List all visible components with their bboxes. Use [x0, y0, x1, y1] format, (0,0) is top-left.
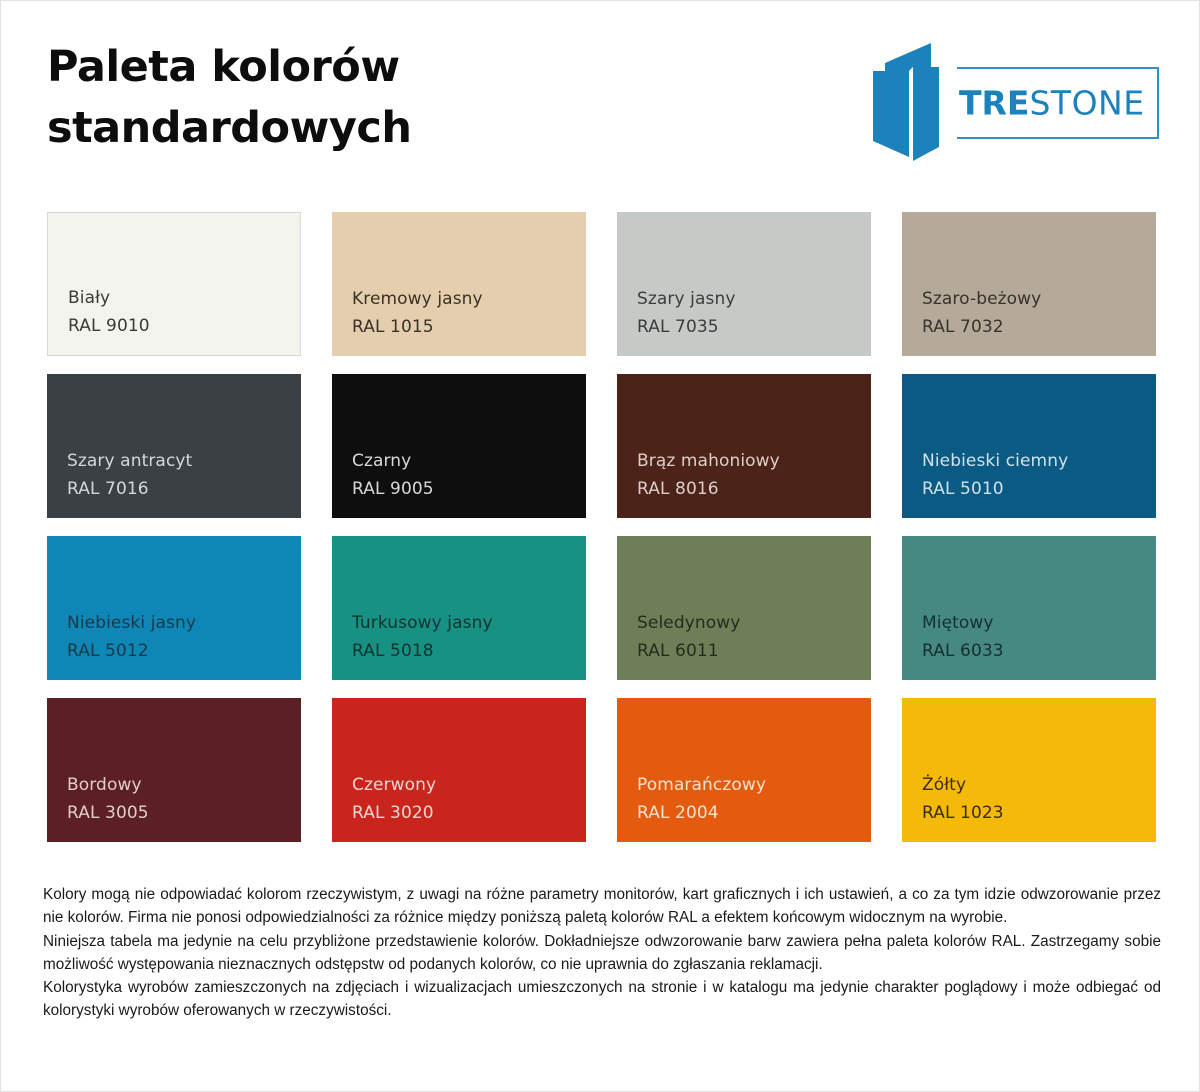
- swatch-name: Czerwony: [352, 772, 566, 798]
- swatch-name: Turkusowy jasny: [352, 610, 566, 636]
- color-swatch[interactable]: Szaro-beżowyRAL 7032: [902, 212, 1156, 356]
- swatch-ral-code: RAL 7035: [637, 314, 851, 340]
- swatch-name: Żółty: [922, 772, 1136, 798]
- page-title: Paleta kolorów standardowych: [47, 37, 607, 159]
- swatch-ral-code: RAL 3020: [352, 800, 566, 826]
- logo-wordmark-bold: TRE: [959, 84, 1029, 123]
- page-header: Paleta kolorów standardowych TRESTONE: [1, 1, 1200, 191]
- logo-wordmark-light: STONE: [1029, 84, 1144, 123]
- trestone-logo: TRESTONE: [869, 39, 1159, 161]
- color-swatch[interactable]: Szary jasnyRAL 7035: [617, 212, 871, 356]
- color-swatch[interactable]: Kremowy jasnyRAL 1015: [332, 212, 586, 356]
- swatch-name: Biały: [68, 285, 280, 311]
- swatch-ral-code: RAL 3005: [67, 800, 281, 826]
- swatch-ral-code: RAL 7032: [922, 314, 1136, 340]
- swatch-ral-code: RAL 5018: [352, 638, 566, 664]
- disclaimer-paragraph: Kolorystyka wyrobów zamieszczonych na zd…: [43, 976, 1161, 1023]
- color-swatch-grid: BiałyRAL 9010Kremowy jasnyRAL 1015Szary …: [47, 212, 1155, 842]
- swatch-ral-code: RAL 8016: [637, 476, 851, 502]
- logo-frame-top-bar: [957, 67, 1159, 69]
- disclaimer-paragraph: Niniejsza tabela ma jedynie na celu przy…: [43, 930, 1161, 977]
- logo-frame-bottom-bar: [957, 137, 1159, 139]
- color-swatch[interactable]: Brąz mahoniowyRAL 8016: [617, 374, 871, 518]
- color-swatch[interactable]: Turkusowy jasnyRAL 5018: [332, 536, 586, 680]
- swatch-name: Seledynowy: [637, 610, 851, 636]
- color-swatch[interactable]: Niebieski ciemnyRAL 5010: [902, 374, 1156, 518]
- disclaimer-block: Kolory mogą nie odpowiadać kolorom rzecz…: [43, 883, 1161, 1023]
- logo-frame: TRESTONE: [951, 67, 1159, 139]
- swatch-name: Szaro-beżowy: [922, 286, 1136, 312]
- color-swatch[interactable]: CzarnyRAL 9005: [332, 374, 586, 518]
- logo-frame-right-bar: [1157, 67, 1159, 139]
- swatch-name: Miętowy: [922, 610, 1136, 636]
- color-swatch[interactable]: Niebieski jasnyRAL 5012: [47, 536, 301, 680]
- swatch-ral-code: RAL 6011: [637, 638, 851, 664]
- swatch-ral-code: RAL 9010: [68, 313, 280, 339]
- swatch-name: Pomarańczowy: [637, 772, 851, 798]
- color-swatch[interactable]: SeledynowyRAL 6011: [617, 536, 871, 680]
- swatch-name: Czarny: [352, 448, 566, 474]
- swatch-ral-code: RAL 6033: [922, 638, 1136, 664]
- swatch-name: Brąz mahoniowy: [637, 448, 851, 474]
- swatch-name: Niebieski jasny: [67, 610, 281, 636]
- swatch-ral-code: RAL 5010: [922, 476, 1136, 502]
- swatch-ral-code: RAL 1015: [352, 314, 566, 340]
- color-swatch[interactable]: BiałyRAL 9010: [47, 212, 301, 356]
- color-swatch[interactable]: MiętowyRAL 6033: [902, 536, 1156, 680]
- brochure-icon: [869, 39, 947, 161]
- swatch-name: Niebieski ciemny: [922, 448, 1136, 474]
- color-swatch[interactable]: CzerwonyRAL 3020: [332, 698, 586, 842]
- swatch-ral-code: RAL 7016: [67, 476, 281, 502]
- swatch-name: Szary jasny: [637, 286, 851, 312]
- swatch-ral-code: RAL 9005: [352, 476, 566, 502]
- disclaimer-paragraph: Kolory mogą nie odpowiadać kolorom rzecz…: [43, 883, 1161, 930]
- color-swatch[interactable]: Szary antracytRAL 7016: [47, 374, 301, 518]
- swatch-name: Szary antracyt: [67, 448, 281, 474]
- color-swatch[interactable]: BordowyRAL 3005: [47, 698, 301, 842]
- swatch-name: Kremowy jasny: [352, 286, 566, 312]
- color-palette-page: Paleta kolorów standardowych TRESTONE Bi…: [0, 0, 1200, 1092]
- swatch-ral-code: RAL 5012: [67, 638, 281, 664]
- swatch-ral-code: RAL 1023: [922, 800, 1136, 826]
- swatch-ral-code: RAL 2004: [637, 800, 851, 826]
- color-swatch[interactable]: PomarańczowyRAL 2004: [617, 698, 871, 842]
- logo-wordmark: TRESTONE: [959, 87, 1145, 120]
- swatch-name: Bordowy: [67, 772, 281, 798]
- color-swatch[interactable]: ŻółtyRAL 1023: [902, 698, 1156, 842]
